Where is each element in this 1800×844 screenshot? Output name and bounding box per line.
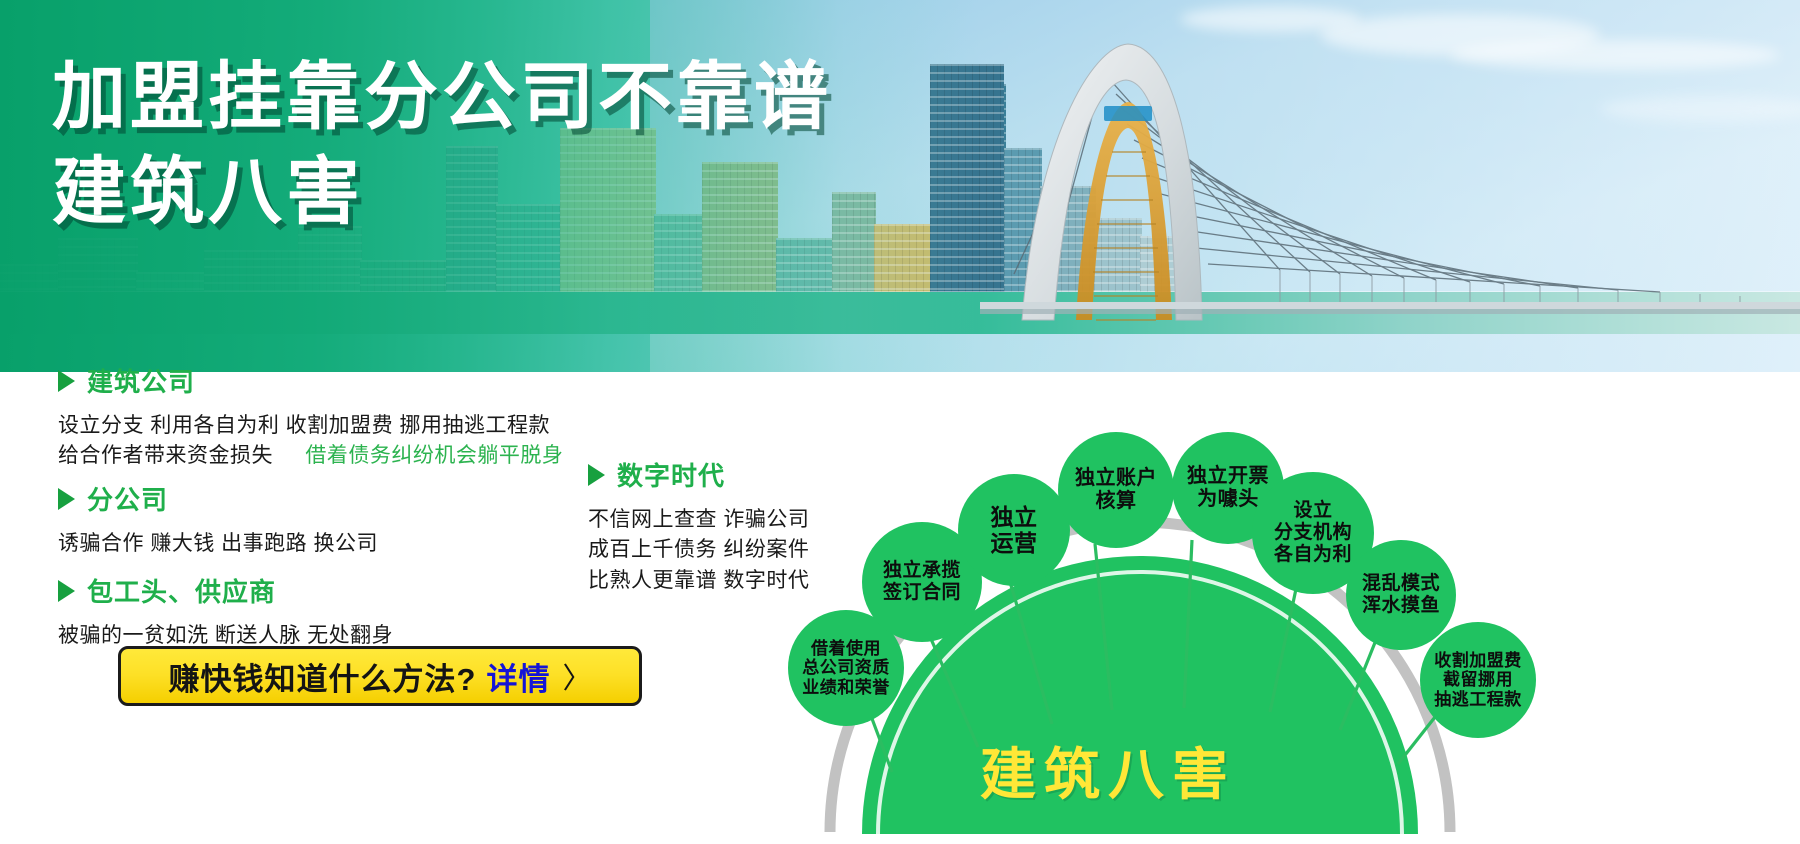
body-line: 成百上千债务 纠纷案件 [588,538,809,561]
bubble-4[interactable]: 独立账户 核算 [1058,432,1174,548]
group-heading-label: 分公司 [87,480,168,517]
group-contractor-supplier: 包工头、供应商 被骗的一贫如洗 断送人脉 无处翻身 [58,572,393,651]
bubble-line: 运营 [991,530,1038,556]
triangle-bullet-icon [588,464,605,486]
cta-link-label[interactable]: 详情 [486,654,550,699]
bubble-3[interactable]: 独立 运营 [958,474,1070,586]
bubble-line: 截留挪用 [1434,670,1522,690]
hero-banner: 加盟挂靠分公司不靠谱 建筑八害 [0,0,1800,372]
bubble-line: 借着使用 [802,639,890,659]
triangle-bullet-icon [58,580,75,602]
group-construction-company: 建筑公司 设立分支 利用各自为利 收割加盟费 挪用抽逃工程款 给合作者带来资金损… [58,362,563,472]
bubble-line: 业绩和荣誉 [802,678,890,698]
bubble-line: 收割加盟费 [1434,651,1522,671]
cta-main-label: 赚快钱知道什么方法? [169,654,477,699]
cta-button[interactable]: 赚快钱知道什么方法? 详情 〉 [118,646,642,706]
group-heading: 包工头、供应商 [58,572,393,609]
group-heading-label: 建筑公司 [87,362,195,399]
group-body: 设立分支 利用各自为利 收割加盟费 挪用抽逃工程款 给合作者带来资金损失 借着债… [58,411,563,472]
group-branch-company: 分公司 诱骗合作 赚大钱 出事跑路 换公司 [58,480,378,559]
bubble-line: 各自为利 [1274,544,1352,566]
bubble-line: 混乱模式 [1362,573,1440,595]
bubble-line: 抽逃工程款 [1434,690,1522,710]
bubble-line: 签订合同 [883,582,961,604]
triangle-bullet-icon [58,488,75,510]
chevron-right-icon: 〉 [562,655,591,697]
dome-label: 建筑八害 [980,730,1236,811]
body-line: 不信网上查查 诈骗公司 [588,508,809,531]
body-line: 诱骗合作 赚大钱 出事跑路 换公司 [58,532,378,555]
group-heading: 建筑公司 [58,362,563,399]
bubble-7[interactable]: 混乱模式 浑水摸鱼 [1346,540,1456,650]
body-line: 被骗的一贫如洗 断送人脉 无处翻身 [58,624,393,647]
group-heading-label: 包工头、供应商 [87,572,276,609]
bubble-line: 独立 [991,504,1038,530]
group-body: 诱骗合作 赚大钱 出事跑路 换公司 [58,529,378,559]
bubble-line: 独立账户 [1075,467,1157,490]
body-line: 比熟人更靠谱 数字时代 [588,569,809,592]
body-line: 给合作者带来资金损失 [58,444,273,467]
poster-root: 加盟挂靠分公司不靠谱 建筑八害 建筑公司 设立分支 利用各自为利 收割加盟费 挪… [0,0,1800,844]
body-line-highlight: 借着债务纠纷机会躺平脱身 [305,444,563,467]
bubble-line: 分支机构 [1274,522,1352,544]
content-section: 建筑公司 设立分支 利用各自为利 收割加盟费 挪用抽逃工程款 给合作者带来资金损… [0,372,1800,844]
bubble-line: 设立 [1274,500,1352,522]
bubble-line: 核算 [1075,490,1157,513]
bubble-line: 总公司资质 [802,658,890,678]
bubble-line: 浑水摸鱼 [1362,595,1440,617]
bridge-illustration [980,20,1800,350]
hero-title-line1: 加盟挂靠分公司不靠谱 [52,56,832,139]
triangle-bullet-icon [58,370,75,392]
body-line: 设立分支 利用各自为利 收割加盟费 挪用抽逃工程款 [58,414,550,437]
hero-title-line2: 建筑八害 [52,151,832,234]
bubble-line: 独立开票 [1187,465,1269,488]
group-heading: 分公司 [58,480,378,517]
hero-title-block: 加盟挂靠分公司不靠谱 建筑八害 [52,56,832,234]
bubble-8[interactable]: 收割加盟费 截留挪用 抽逃工程款 [1420,622,1536,738]
infographic-diagram: 借着使用 总公司资质 业绩和荣誉 独立承揽 签订合同 独立 运营 [800,332,1800,844]
group-heading-label: 数字时代 [617,456,725,493]
bubble-line: 独立承揽 [883,560,961,582]
